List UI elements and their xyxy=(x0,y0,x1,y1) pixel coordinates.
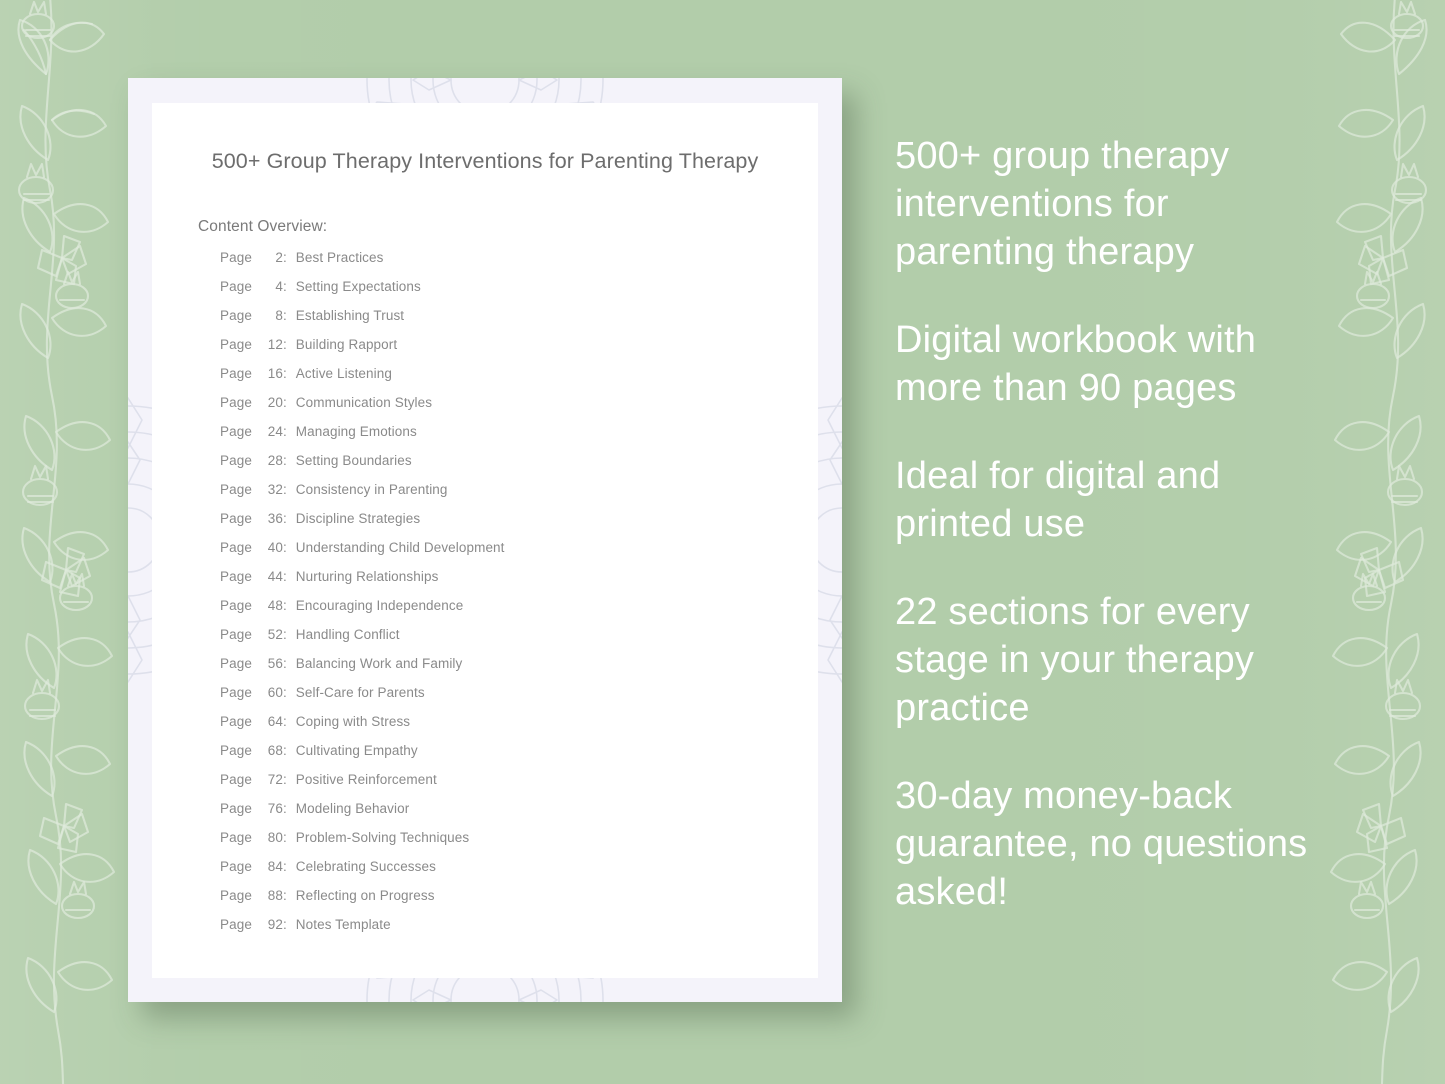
toc-topic: Modeling Behavior xyxy=(296,801,410,816)
toc-topic: Consistency in Parenting xyxy=(296,482,448,497)
toc-page-word: Page xyxy=(220,598,252,613)
toc-page-number: 4 xyxy=(256,279,283,294)
promo-line: 30-day money-back guarantee, no question… xyxy=(895,772,1325,916)
toc-topic: Building Rapport xyxy=(296,337,397,352)
toc-page-number: 8 xyxy=(256,308,283,323)
toc-colon: : xyxy=(283,888,287,903)
toc-page-number: 24 xyxy=(256,424,283,439)
toc-page-word: Page xyxy=(220,569,252,584)
table-of-contents-row: Page16:Active Listening xyxy=(220,366,818,395)
toc-topic: Reflecting on Progress xyxy=(296,888,435,903)
toc-page-number: 2 xyxy=(256,250,283,265)
toc-topic: Encouraging Independence xyxy=(296,598,464,613)
toc-page-number: 36 xyxy=(256,511,283,526)
toc-page-word: Page xyxy=(220,540,252,555)
toc-page-number: 12 xyxy=(256,337,283,352)
toc-topic: Celebrating Successes xyxy=(296,859,436,874)
toc-page-number: 20 xyxy=(256,395,283,410)
table-of-contents-row: Page80:Problem-Solving Techniques xyxy=(220,830,818,859)
toc-topic: Positive Reinforcement xyxy=(296,772,437,787)
toc-page-number: 72 xyxy=(256,772,283,787)
toc-page-word: Page xyxy=(220,366,252,381)
table-of-contents-row: Page60:Self-Care for Parents xyxy=(220,685,818,714)
table-of-contents-row: Page48:Encouraging Independence xyxy=(220,598,818,627)
toc-page-number: 28 xyxy=(256,453,283,468)
table-of-contents-row: Page56:Balancing Work and Family xyxy=(220,656,818,685)
toc-colon: : xyxy=(283,540,287,555)
table-of-contents-row: Page64:Coping with Stress xyxy=(220,714,818,743)
promo-line: Ideal for digital and printed use xyxy=(895,452,1325,548)
toc-page-word: Page xyxy=(220,424,252,439)
toc-colon: : xyxy=(283,656,287,671)
toc-topic: Problem-Solving Techniques xyxy=(296,830,469,845)
toc-page-word: Page xyxy=(220,627,252,642)
toc-topic: Discipline Strategies xyxy=(296,511,420,526)
table-of-contents-row: Page32:Consistency in Parenting xyxy=(220,482,818,511)
toc-page-word: Page xyxy=(220,453,252,468)
toc-page-word: Page xyxy=(220,308,252,323)
toc-colon: : xyxy=(283,511,287,526)
toc-page-word: Page xyxy=(220,830,252,845)
toc-colon: : xyxy=(283,453,287,468)
document-page: 500+ Group Therapy Interventions for Par… xyxy=(152,103,818,978)
toc-topic: Active Listening xyxy=(296,366,392,381)
toc-page-number: 40 xyxy=(256,540,283,555)
table-of-contents-row: Page68:Cultivating Empathy xyxy=(220,743,818,772)
toc-colon: : xyxy=(283,424,287,439)
toc-topic: Managing Emotions xyxy=(296,424,417,439)
toc-page-word: Page xyxy=(220,279,252,294)
table-of-contents-row: Page4:Setting Expectations xyxy=(220,279,818,308)
toc-page-number: 56 xyxy=(256,656,283,671)
toc-page-word: Page xyxy=(220,714,252,729)
toc-topic: Setting Boundaries xyxy=(296,453,412,468)
toc-page-word: Page xyxy=(220,859,252,874)
toc-page-number: 88 xyxy=(256,888,283,903)
toc-page-number: 32 xyxy=(256,482,283,497)
table-of-contents-row: Page24:Managing Emotions xyxy=(220,424,818,453)
toc-topic: Nurturing Relationships xyxy=(296,569,439,584)
table-of-contents-row: Page84:Celebrating Successes xyxy=(220,859,818,888)
toc-topic: Balancing Work and Family xyxy=(296,656,463,671)
floral-vine-icon-left xyxy=(0,0,132,1084)
table-of-contents-row: Page36:Discipline Strategies xyxy=(220,511,818,540)
toc-colon: : xyxy=(283,801,287,816)
toc-page-word: Page xyxy=(220,250,252,265)
toc-page-word: Page xyxy=(220,656,252,671)
toc-page-number: 76 xyxy=(256,801,283,816)
toc-colon: : xyxy=(283,627,287,642)
table-of-contents-row: Page2:Best Practices xyxy=(220,250,818,279)
page-title: 500+ Group Therapy Interventions for Par… xyxy=(194,147,776,176)
table-of-contents-row: Page28:Setting Boundaries xyxy=(220,453,818,482)
toc-page-number: 64 xyxy=(256,714,283,729)
table-of-contents-row: Page52:Handling Conflict xyxy=(220,627,818,656)
toc-page-word: Page xyxy=(220,482,252,497)
toc-colon: : xyxy=(283,714,287,729)
toc-colon: : xyxy=(283,859,287,874)
toc-topic: Coping with Stress xyxy=(296,714,410,729)
table-of-contents-row: Page92:Notes Template xyxy=(220,917,818,946)
table-of-contents-row: Page76:Modeling Behavior xyxy=(220,801,818,830)
toc-page-number: 16 xyxy=(256,366,283,381)
toc-page-word: Page xyxy=(220,395,252,410)
toc-page-word: Page xyxy=(220,888,252,903)
toc-page-word: Page xyxy=(220,917,252,932)
toc-colon: : xyxy=(283,743,287,758)
toc-topic: Establishing Trust xyxy=(296,308,404,323)
toc-colon: : xyxy=(283,830,287,845)
toc-colon: : xyxy=(283,395,287,410)
toc-topic: Best Practices xyxy=(296,250,384,265)
toc-colon: : xyxy=(283,250,287,265)
table-of-contents-row: Page12:Building Rapport xyxy=(220,337,818,366)
toc-topic: Cultivating Empathy xyxy=(296,743,418,758)
floral-vine-icon-right xyxy=(1313,0,1445,1084)
toc-page-word: Page xyxy=(220,743,252,758)
table-of-contents-row: Page44:Nurturing Relationships xyxy=(220,569,818,598)
toc-page-number: 68 xyxy=(256,743,283,758)
table-of-contents-row: Page20:Communication Styles xyxy=(220,395,818,424)
promo-line: 22 sections for every stage in your ther… xyxy=(895,588,1325,732)
content-overview-label: Content Overview: xyxy=(198,218,818,236)
toc-page-number: 92 xyxy=(256,917,283,932)
toc-colon: : xyxy=(283,337,287,352)
toc-topic: Handling Conflict xyxy=(296,627,400,642)
toc-colon: : xyxy=(283,308,287,323)
toc-colon: : xyxy=(283,917,287,932)
toc-page-number: 84 xyxy=(256,859,283,874)
toc-page-word: Page xyxy=(220,685,252,700)
table-of-contents-row: Page88:Reflecting on Progress xyxy=(220,888,818,917)
toc-page-word: Page xyxy=(220,772,252,787)
toc-topic: Self-Care for Parents xyxy=(296,685,425,700)
table-of-contents-row: Page40:Understanding Child Development xyxy=(220,540,818,569)
promo-line: Digital workbook with more than 90 pages xyxy=(895,316,1325,412)
toc-topic: Understanding Child Development xyxy=(296,540,505,555)
toc-colon: : xyxy=(283,598,287,613)
toc-page-word: Page xyxy=(220,337,252,352)
toc-page-number: 44 xyxy=(256,569,283,584)
toc-page-word: Page xyxy=(220,511,252,526)
table-of-contents-row: Page8:Establishing Trust xyxy=(220,308,818,337)
toc-colon: : xyxy=(283,366,287,381)
toc-topic: Setting Expectations xyxy=(296,279,421,294)
table-of-contents-row: Page72:Positive Reinforcement xyxy=(220,772,818,801)
toc-page-number: 60 xyxy=(256,685,283,700)
toc-colon: : xyxy=(283,569,287,584)
toc-page-number: 80 xyxy=(256,830,283,845)
promo-column: 500+ group therapy interventions for par… xyxy=(895,132,1325,916)
toc-page-number: 52 xyxy=(256,627,283,642)
toc-colon: : xyxy=(283,772,287,787)
document-card[interactable]: 500+ Group Therapy Interventions for Par… xyxy=(128,78,842,1002)
toc-page-number: 48 xyxy=(256,598,283,613)
toc-colon: : xyxy=(283,685,287,700)
toc-colon: : xyxy=(283,482,287,497)
toc-page-word: Page xyxy=(220,801,252,816)
promo-line: 500+ group therapy interventions for par… xyxy=(895,132,1325,276)
toc-colon: : xyxy=(283,279,287,294)
toc-topic: Notes Template xyxy=(296,917,391,932)
table-of-contents: Page2:Best PracticesPage4:Setting Expect… xyxy=(220,250,818,946)
toc-topic: Communication Styles xyxy=(296,395,432,410)
